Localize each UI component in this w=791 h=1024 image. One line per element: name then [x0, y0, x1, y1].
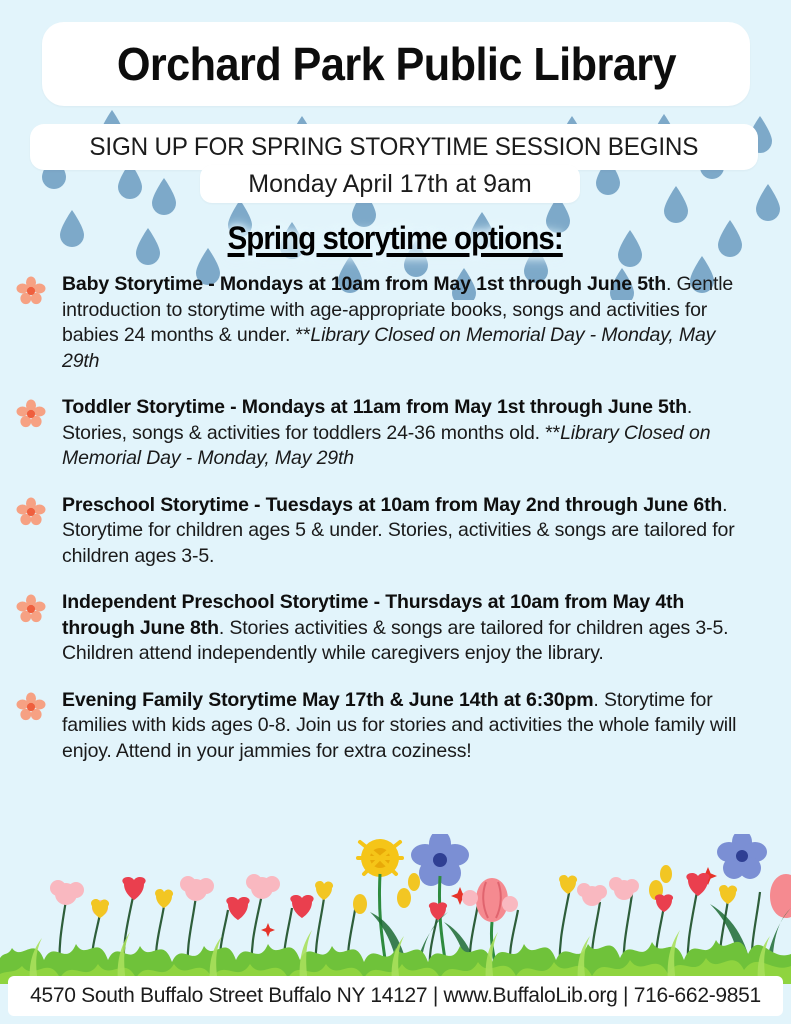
library-title-card: Orchard Park Public Library	[42, 22, 750, 106]
storytime-option-text: Independent Preschool Storytime - Thursd…	[62, 590, 755, 667]
storytime-option-title: Baby Storytime - Mondays at 10am from Ma…	[62, 273, 666, 295]
storytime-option-preschool-storytime: Preschool Storytime - Tuesdays at 10am f…	[0, 493, 791, 570]
signup-date-card: Monday April 17th at 9am	[200, 165, 580, 203]
storytime-option-text: Preschool Storytime - Tuesdays at 10am f…	[62, 493, 755, 570]
flower-bullet	[16, 497, 46, 527]
options-heading: Spring storytime options:	[0, 220, 791, 257]
storytime-option-text: Evening Family Storytime May 17th & June…	[62, 688, 755, 765]
storytime-option-toddler-storytime: Toddler Storytime - Mondays at 11am from…	[0, 395, 791, 472]
signup-date-line: Monday April 17th at 9am	[248, 170, 532, 199]
footer-address-text: 4570 South Buffalo Street Buffalo NY 141…	[30, 984, 761, 1008]
flower-bullet	[16, 692, 46, 722]
flower-bullet-icon	[16, 399, 46, 429]
grass-flower-border	[0, 834, 791, 984]
storytime-option-text: Baby Storytime - Mondays at 10am from Ma…	[62, 272, 755, 374]
storytime-option-title: Preschool Storytime - Tuesdays at 10am f…	[62, 494, 722, 516]
small-flowers	[50, 873, 737, 920]
page-title: Orchard Park Public Library	[116, 37, 675, 91]
storytime-option-baby-storytime: Baby Storytime - Mondays at 10am from Ma…	[0, 272, 791, 374]
storytime-option-evening-family-storytime: Evening Family Storytime May 17th & June…	[0, 688, 791, 765]
footer-address-bar: 4570 South Buffalo Street Buffalo NY 141…	[8, 976, 783, 1016]
options-heading-text: Spring storytime options:	[228, 220, 563, 257]
flower-bullet	[16, 276, 46, 306]
flower-bullet	[16, 594, 46, 624]
garden-svg	[0, 834, 791, 984]
signup-announcement-card: SIGN UP FOR SPRING STORYTIME SESSION BEG…	[30, 124, 758, 170]
flower-bullet-icon	[16, 276, 46, 306]
storytime-options-list: Baby Storytime - Mondays at 10am from Ma…	[0, 272, 791, 785]
flower-bullet	[16, 399, 46, 429]
storytime-option-text: Toddler Storytime - Mondays at 11am from…	[62, 395, 755, 472]
signup-line: SIGN UP FOR SPRING STORYTIME SESSION BEG…	[90, 133, 699, 162]
flower-bullet-icon	[16, 692, 46, 722]
flyer-page: Orchard Park Public Library SIGN UP FOR …	[0, 0, 791, 1024]
flower-bullet-icon	[16, 594, 46, 624]
flower-bullet-icon	[16, 497, 46, 527]
storytime-option-title: Toddler Storytime - Mondays at 11am from…	[62, 396, 687, 418]
storytime-option-title: Evening Family Storytime May 17th & June…	[62, 689, 593, 711]
storytime-option-independent-preschool-storytime: Independent Preschool Storytime - Thursd…	[0, 590, 791, 667]
